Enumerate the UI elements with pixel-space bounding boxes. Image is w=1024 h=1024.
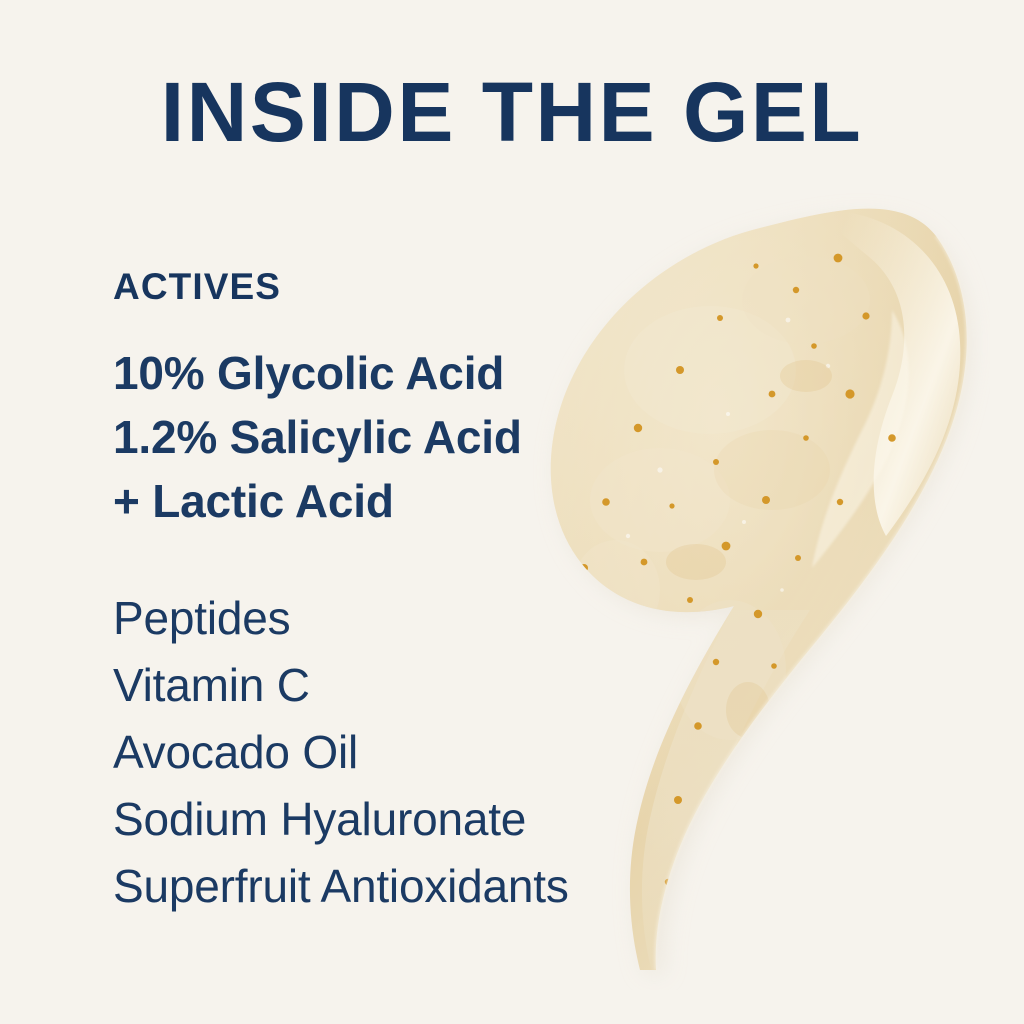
list-item: Avocado Oil xyxy=(113,719,713,786)
ingredient-text-column: ACTIVES 10% Glycolic Acid 1.2% Salicylic… xyxy=(113,268,713,920)
page-title: INSIDE THE GEL xyxy=(0,70,1024,154)
list-item: 10% Glycolic Acid xyxy=(113,341,713,405)
product-ingredient-card: INSIDE THE GEL xyxy=(0,0,1024,1024)
list-item: Peptides xyxy=(113,585,713,652)
list-item: Sodium Hyaluronate xyxy=(113,786,713,853)
actives-heading: ACTIVES xyxy=(113,268,713,307)
list-item: 1.2% Salicylic Acid xyxy=(113,405,713,469)
actives-ingredient-list: 10% Glycolic Acid 1.2% Salicylic Acid + … xyxy=(113,341,713,533)
supporting-ingredient-list: Peptides Vitamin C Avocado Oil Sodium Hy… xyxy=(113,585,713,920)
list-item: Superfruit Antioxidants xyxy=(113,853,713,920)
list-item: Vitamin C xyxy=(113,652,713,719)
list-item: + Lactic Acid xyxy=(113,469,713,533)
